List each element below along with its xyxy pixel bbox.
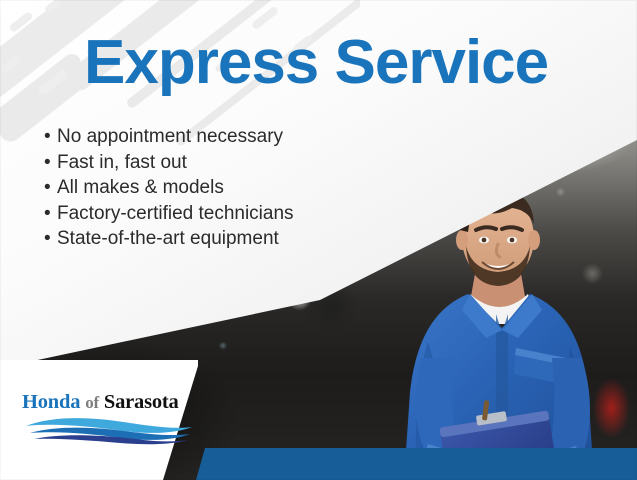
list-item: State-of-the-art equipment [44,226,294,252]
logo-word-honda: Honda [22,391,80,413]
express-service-banner: Express Service No appointment necessary… [0,0,637,480]
dealership-logo[interactable]: Honda of Sarasota [22,392,198,448]
logo-word-of: of [85,393,99,412]
list-item: Fast in, fast out [44,150,294,176]
list-item: Factory-certified technicians [44,201,294,227]
logo-word-sarasota: Sarasota [104,391,179,413]
list-item: No appointment necessary [44,124,294,150]
logo-wave-icon [24,416,196,446]
logo-wordmark: Honda of Sarasota [22,392,198,413]
page-title: Express Service [84,32,548,94]
feature-bullet-list: No appointment necessary Fast in, fast o… [44,124,294,252]
list-item: All makes & models [44,175,294,201]
